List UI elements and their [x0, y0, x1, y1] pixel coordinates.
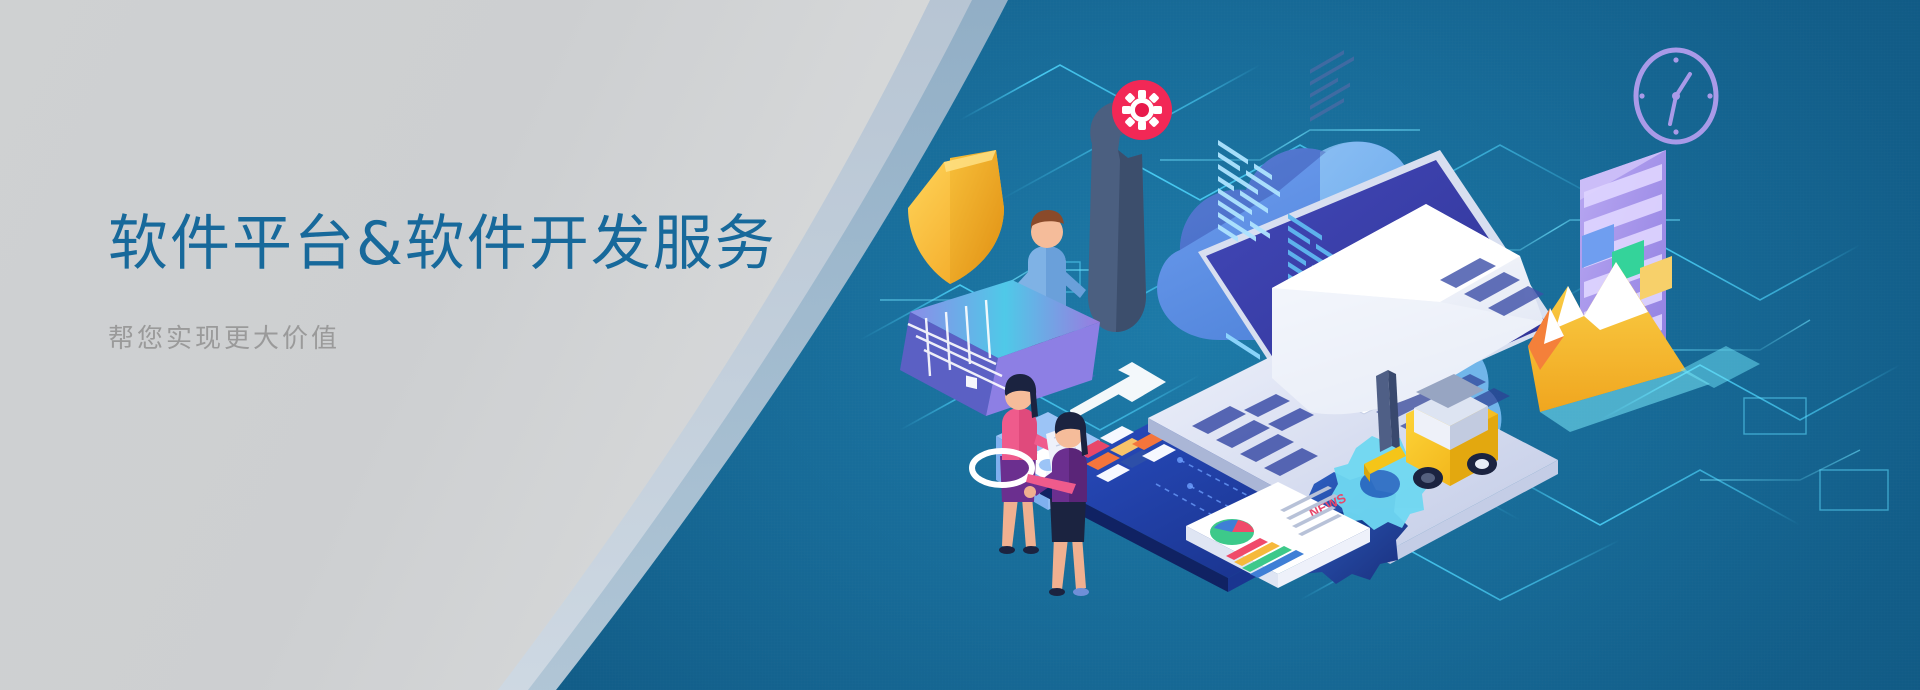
hero-illustration: NEWS — [880, 40, 1920, 650]
page-title: 软件平台&软件开发服务 — [108, 210, 848, 279]
clock-icon — [1636, 50, 1716, 142]
shield-icon — [908, 150, 1004, 284]
hero-text-block: 软件平台&软件开发服务 帮您实现更大价值 — [108, 210, 848, 357]
hero-banner: 软件平台&软件开发服务 帮您实现更大价值 — [0, 0, 1920, 690]
solar-grid-panel — [900, 280, 1100, 416]
page-subtitle: 帮您实现更大价值 — [108, 323, 848, 357]
news-card-pie — [1210, 519, 1254, 545]
gear-badge-icon — [1112, 80, 1172, 140]
mountain-chart — [1528, 262, 1710, 432]
